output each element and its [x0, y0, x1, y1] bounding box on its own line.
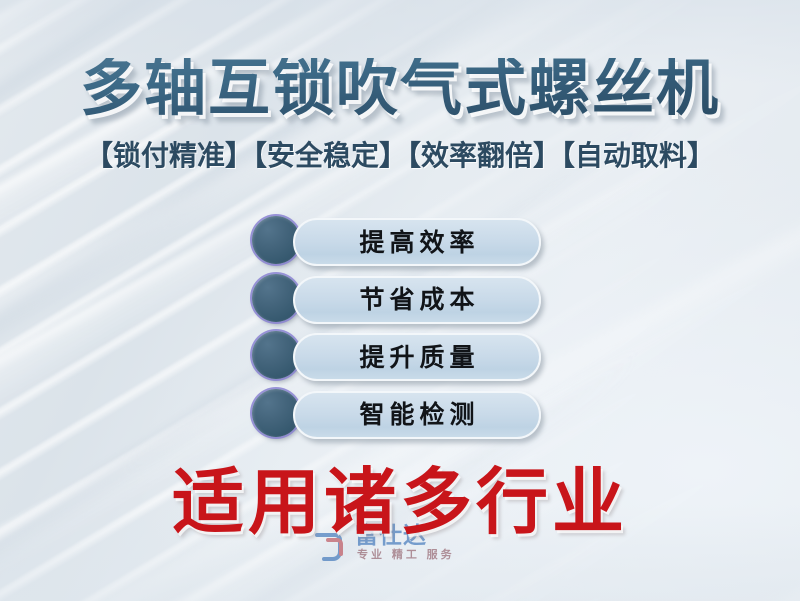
feature-label: 提高效率: [354, 230, 479, 255]
feature-pill: 节省成本: [293, 276, 541, 324]
promo-banner: 多轴互锁吹气式螺丝机 【锁付精准】【安全稳定】【效率翻倍】【自动取料】 提高效率…: [0, 0, 800, 601]
feature-label: 提升质量: [354, 345, 479, 370]
page-title: 多轴互锁吹气式螺丝机: [0, 58, 800, 120]
feature-pill: 提高效率: [293, 218, 541, 266]
feature-pill: 智能检测: [293, 391, 541, 439]
feature-pill: 提升质量: [293, 333, 541, 381]
subtitle-tagline: 【锁付精准】【安全稳定】【效率翻倍】【自动取料】: [0, 142, 800, 170]
footer-headline: 适用诸多行业: [0, 466, 800, 538]
feature-label: 智能检测: [354, 402, 479, 427]
feature-label: 节省成本: [354, 287, 479, 312]
watermark-tagline: 专业 精工 服务: [357, 549, 455, 560]
